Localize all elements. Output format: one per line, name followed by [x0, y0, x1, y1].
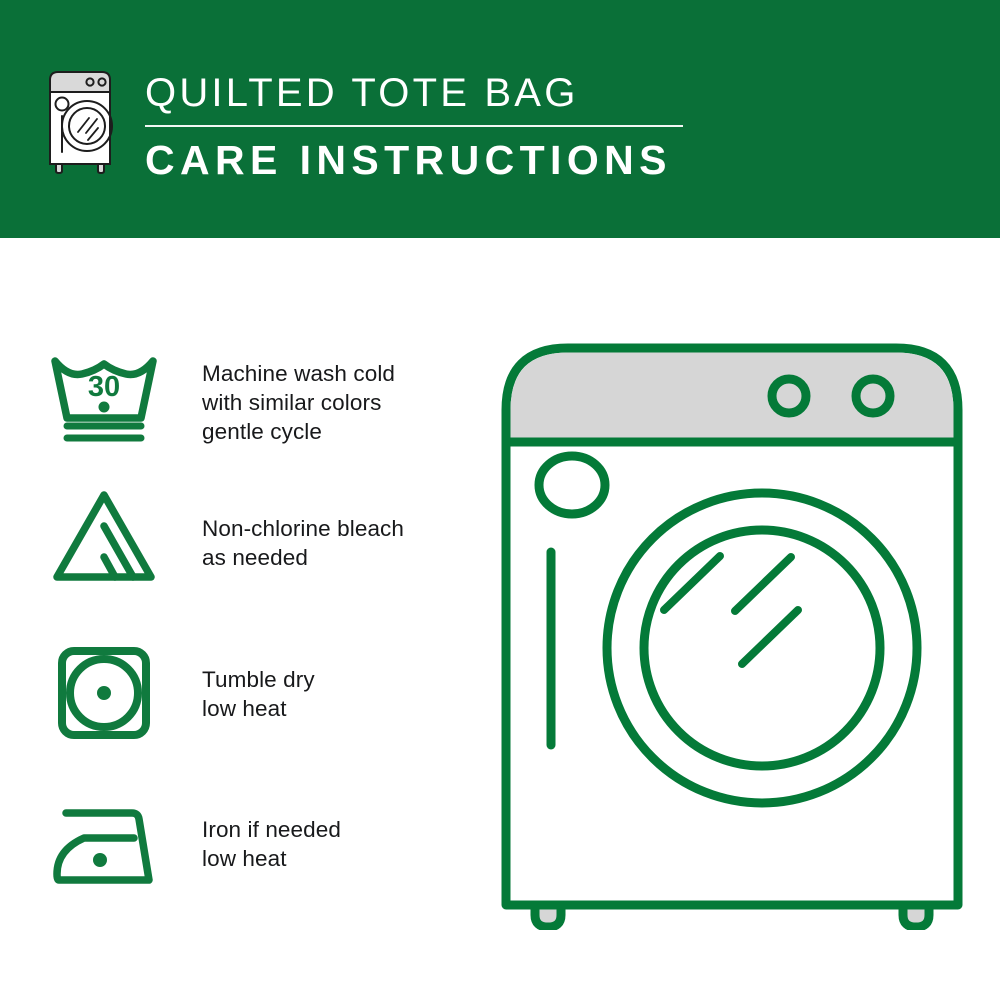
care-instructions-infographic: QUILTED TOTE BAG CARE INSTRUCTIONS 30	[0, 0, 1000, 1000]
header-title-group: QUILTED TOTE BAG CARE INSTRUCTIONS	[145, 68, 705, 185]
care-item-wash-text: Machine wash cold with similar colors ge…	[160, 346, 395, 446]
care-item-bleach: Non-chlorine bleach as needed	[48, 486, 468, 586]
leg-right	[903, 905, 929, 927]
care-text-line: Iron if needed	[202, 815, 341, 844]
care-instructions-list: 30 Machine wash cold with similar colors…	[0, 238, 480, 1000]
page-subtitle: CARE INSTRUCTIONS	[145, 135, 705, 185]
iron-icon	[48, 798, 160, 898]
care-item-tumble-dry: Tumble dry low heat	[48, 643, 468, 743]
bleach-triangle-icon	[48, 486, 160, 586]
front-load-washing-machine-illustration	[492, 330, 972, 930]
page-title: QUILTED TOTE BAG	[145, 68, 705, 118]
title-divider	[145, 125, 683, 127]
tumble-dry-icon	[48, 643, 160, 743]
care-item-tumble-dry-text: Tumble dry low heat	[160, 643, 315, 723]
leg-left	[535, 905, 561, 927]
tumble-dry-heat-dot	[97, 686, 111, 700]
wash-tub-icon: 30	[48, 346, 160, 446]
care-text-line: low heat	[202, 694, 315, 723]
wash-heat-dot	[99, 402, 110, 413]
care-text-line: Non-chlorine bleach	[202, 514, 404, 543]
care-item-bleach-text: Non-chlorine bleach as needed	[160, 486, 404, 572]
iron-heat-dot	[93, 853, 107, 867]
care-text-line: Machine wash cold	[202, 359, 395, 388]
header-banner: QUILTED TOTE BAG CARE INSTRUCTIONS	[0, 0, 1000, 238]
wash-temperature-label: 30	[88, 371, 120, 403]
care-text-line: with similar colors	[202, 388, 395, 417]
care-item-iron-text: Iron if needed low heat	[160, 798, 341, 873]
washing-machine-icon	[44, 66, 116, 174]
care-text-line: low heat	[202, 844, 341, 873]
care-text-line: as needed	[202, 543, 404, 572]
care-item-wash: 30 Machine wash cold with similar colors…	[48, 346, 468, 446]
care-item-iron: Iron if needed low heat	[48, 798, 468, 898]
care-text-line: Tumble dry	[202, 665, 315, 694]
care-text-line: gentle cycle	[202, 417, 395, 446]
